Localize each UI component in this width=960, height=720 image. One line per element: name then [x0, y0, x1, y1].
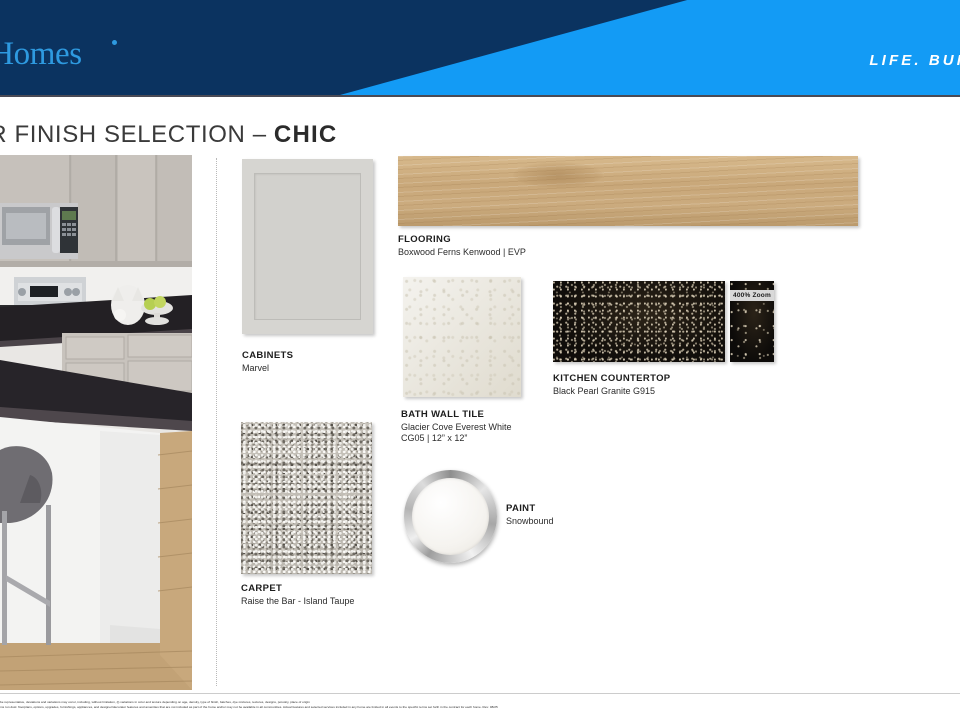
page-title: OR FINISH SELECTION – CHIC: [0, 121, 337, 149]
kitchen-photo: [0, 155, 192, 690]
label-carpet-description: Raise the Bar - Island Taupe: [241, 596, 354, 608]
zoom-badge: 400% Zoom: [730, 290, 774, 301]
header-divider: [0, 95, 960, 97]
content-divider: [216, 158, 217, 686]
tile-texture: [403, 277, 521, 397]
label-cabinets: CABINETS Marvel: [242, 350, 293, 374]
label-kitchen-countertop: KITCHEN COUNTERTOP Black Pearl Granite G…: [553, 373, 671, 397]
label-flooring-description: Boxwood Ferns Kenwood | EVP: [398, 247, 526, 259]
swatch-bath-wall-tile[interactable]: [403, 277, 521, 397]
label-kitchen-countertop-description: Black Pearl Granite G915: [553, 386, 671, 398]
page-title-style-name: CHIC: [274, 121, 337, 148]
swatch-paint[interactable]: [404, 470, 497, 563]
label-cabinets-category: CABINETS: [242, 350, 293, 363]
granite-texture: [553, 281, 725, 362]
label-bath-wall-tile-size: CG05 | 12” x 12”: [401, 433, 512, 445]
brand-logo-registered-dot: [112, 40, 117, 45]
page-title-prefix: OR FINISH SELECTION –: [0, 121, 274, 148]
label-flooring-category: FLOORING: [398, 234, 526, 247]
disclaimer-line-2: ms run dust: floorplans, options, upgrad…: [0, 705, 960, 710]
swatch-carpet[interactable]: [241, 422, 372, 574]
header-tagline: LIFE. BUI: [869, 52, 960, 69]
swatch-kitchen-countertop[interactable]: [553, 281, 725, 362]
swatch-kitchen-countertop-zoom[interactable]: 400% Zoom: [730, 281, 774, 362]
disclaimer-text: be representative, deviations and variat…: [0, 700, 960, 710]
carpet-texture: [241, 422, 372, 574]
page-header: LIFE. BUI eHomes: [0, 0, 960, 95]
label-kitchen-countertop-category: KITCHEN COUNTERTOP: [553, 373, 671, 386]
header-blue-wedge: [340, 0, 960, 95]
paint-color-fill: [412, 478, 489, 555]
swatch-cabinets[interactable]: [242, 159, 373, 334]
label-bath-wall-tile: BATH WALL TILE Glacier Cove Everest Whit…: [401, 409, 512, 445]
label-paint: PAINT Snowbound: [506, 503, 554, 527]
label-carpet-category: CARPET: [241, 583, 354, 596]
label-bath-wall-tile-description: Glacier Cove Everest White: [401, 422, 512, 434]
label-flooring: FLOORING Boxwood Ferns Kenwood | EVP: [398, 234, 526, 258]
label-paint-category: PAINT: [506, 503, 554, 516]
swatch-flooring[interactable]: [398, 156, 858, 226]
label-carpet: CARPET Raise the Bar - Island Taupe: [241, 583, 354, 607]
wood-knot-detail: [513, 162, 603, 188]
footer-divider: [0, 693, 960, 694]
wood-grain-texture: [398, 156, 858, 226]
label-paint-description: Snowbound: [506, 516, 554, 528]
label-cabinets-description: Marvel: [242, 363, 293, 375]
cabinet-door-panel: [254, 173, 361, 320]
label-bath-wall-tile-category: BATH WALL TILE: [401, 409, 512, 422]
brand-logo-text: eHomes: [0, 36, 82, 73]
